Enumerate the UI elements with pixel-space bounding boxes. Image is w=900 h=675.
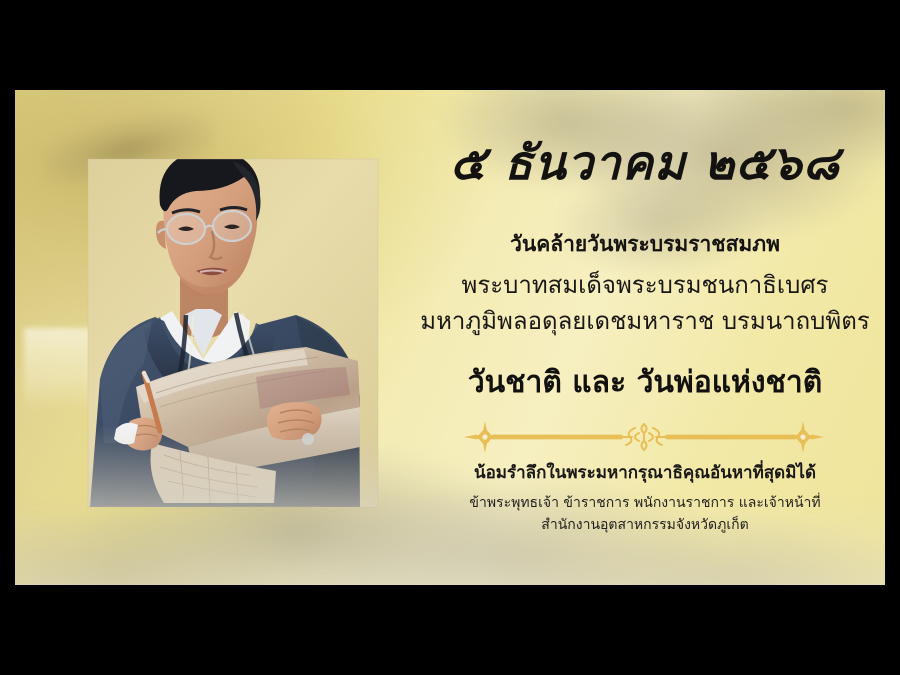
screenshot-root: ๕ ธันวาคม ๒๕๖๘ วันคล้ายวันพระบรมราชสมภพ … (0, 0, 900, 675)
occasion-title: วันชาติ และ วันพ่อแห่งชาติ (405, 365, 885, 401)
royal-name-block: พระบาทสมเด็จพระบรมชนกาธิเบศร มหาภูมิพลอด… (405, 267, 885, 340)
tribute-line: น้อมรำลึกในพระมหากรุณาธิคุณอันหาที่สุดมิ… (405, 462, 885, 484)
royal-name-line-2: มหาภูมิพลอดุลยเดชมหาราช บรมนาถบพิตร (405, 303, 885, 339)
commemorative-banner: ๕ ธันวาคม ๒๕๖๘ วันคล้ายวันพระบรมราชสมภพ … (15, 90, 885, 585)
ornament-divider (463, 420, 825, 454)
royal-portrait-photo (60, 125, 395, 540)
text-column: ๕ ธันวาคม ๒๕๖๘ วันคล้ายวันพระบรมราชสมภพ … (405, 90, 885, 585)
signoff-line-1: ข้าพระพุทธเจ้า ข้าราชการ พนักงานราชการ แ… (405, 493, 885, 515)
signoff-line-2: สำนักงานอุตสาหกรรมจังหวัดภูเก็ต (405, 515, 885, 537)
royal-name-line-1: พระบาทสมเด็จพระบรมชนกาธิเบศร (405, 267, 885, 303)
subtitle-occasion: วันคล้ายวันพระบรมราชสมภพ (405, 230, 885, 257)
signoff-block: ข้าพระพุทธเจ้า ข้าราชการ พนักงานราชการ แ… (405, 493, 885, 536)
headline-date: ๕ ธันวาคม ๒๕๖๘ (405, 138, 885, 190)
